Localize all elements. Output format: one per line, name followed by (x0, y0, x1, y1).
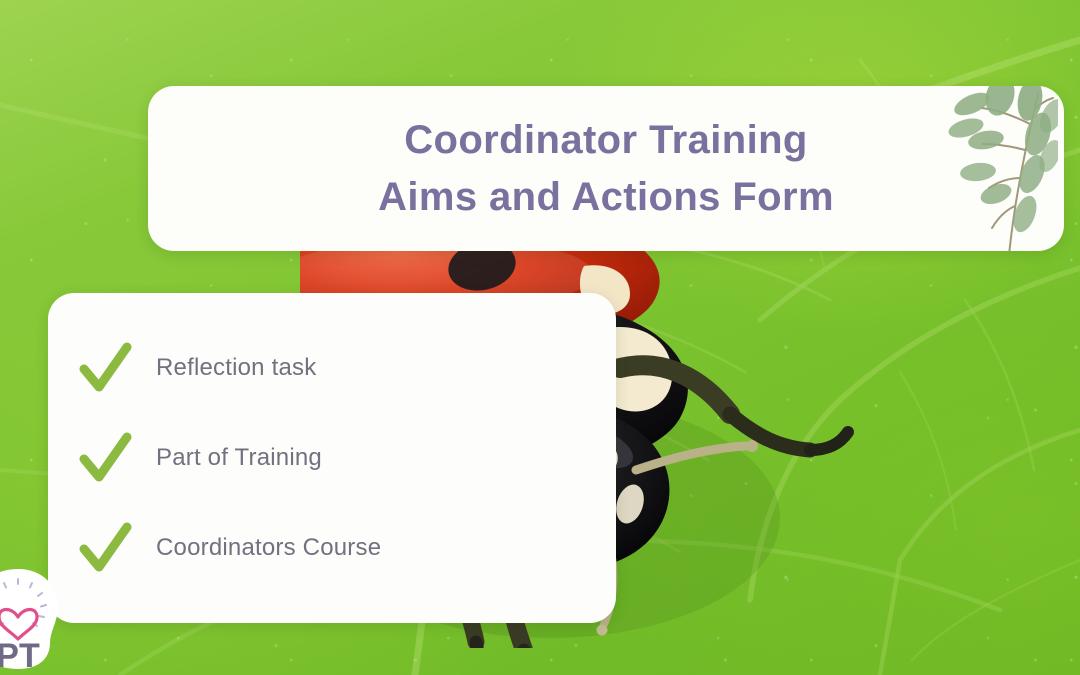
page-title-line-1: Coordinator Training (404, 112, 808, 169)
checklist-item-reflection-task: Reflection task (78, 341, 582, 395)
checkmark-icon (78, 431, 132, 485)
checklist-item-coordinators-course: Coordinators Course (78, 521, 582, 575)
olive-branch-icon (926, 86, 1058, 251)
page-title-line-2: Aims and Actions Form (378, 169, 834, 226)
title-card: Coordinator Training Aims and Actions Fo… (148, 86, 1064, 251)
checklist-card: Reflection task Part of Training Coordin… (48, 293, 616, 623)
slide-canvas: Courses Coordinator Training Aims and Ac… (0, 0, 1080, 675)
checkmark-icon (78, 341, 132, 395)
checklist-item-label: Reflection task (156, 354, 316, 382)
checklist-item-label: Coordinators Course (156, 534, 381, 562)
checkmark-icon (78, 521, 132, 575)
checklist-item-part-of-training: Part of Training (78, 431, 582, 485)
checklist-item-label: Part of Training (156, 444, 322, 472)
